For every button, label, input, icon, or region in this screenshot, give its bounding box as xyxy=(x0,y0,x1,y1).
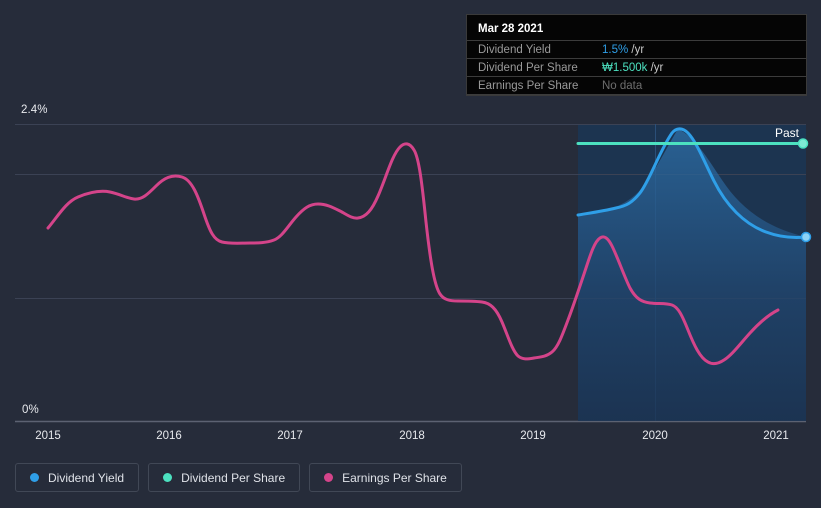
y-axis-top-label: 2.4% xyxy=(21,104,48,116)
x-axis-label-2020: 2020 xyxy=(642,430,668,442)
tooltip-value-earnings-per-share: No data xyxy=(602,80,642,92)
y-axis-bottom-label: 0% xyxy=(22,404,39,416)
past-region-label: Past xyxy=(775,126,799,140)
legend-item-dividend-yield[interactable]: Dividend Yield xyxy=(15,463,139,492)
tooltip-value-dividend-yield: 1.5% /yr xyxy=(602,44,644,56)
legend-label-dividend-yield: Dividend Yield xyxy=(48,471,124,485)
dividend-yield-end-marker xyxy=(802,233,811,242)
legend-item-dividend-per-share[interactable]: Dividend Per Share xyxy=(148,463,300,492)
legend-dot-icon-earnings-per-share xyxy=(324,473,333,482)
x-axis-label-2021: 2021 xyxy=(763,430,789,442)
tooltip-key-dividend-yield: Dividend Yield xyxy=(478,44,602,56)
x-axis-label-2019: 2019 xyxy=(520,430,546,442)
tooltip-row-dividend-yield: Dividend Yield 1.5% /yr xyxy=(467,40,806,58)
chart-tooltip: Mar 28 2021 Dividend Yield 1.5% /yr Divi… xyxy=(466,14,807,96)
dividend-chart-widget: 2.4% 0% 2015 2016 2017 2018 2019 2020 20… xyxy=(0,0,821,508)
tooltip-number-dividend-per-share: ₩1.500k xyxy=(602,62,647,74)
legend-dot-icon-dividend-yield xyxy=(30,473,39,482)
tooltip-key-earnings-per-share: Earnings Per Share xyxy=(478,80,602,92)
chart-legend: Dividend Yield Dividend Per Share Earnin… xyxy=(15,463,462,492)
legend-item-earnings-per-share[interactable]: Earnings Per Share xyxy=(309,463,462,492)
tooltip-value-dividend-per-share: ₩1.500k /yr xyxy=(602,62,663,74)
legend-label-earnings-per-share: Earnings Per Share xyxy=(342,471,447,485)
x-axis-label-2017: 2017 xyxy=(277,430,303,442)
tooltip-unit-dividend-yield: /yr xyxy=(628,44,644,56)
x-axis-label-2018: 2018 xyxy=(399,430,425,442)
tooltip-number-dividend-yield: 1.5% xyxy=(602,44,628,56)
tooltip-key-dividend-per-share: Dividend Per Share xyxy=(478,62,602,74)
x-axis-label-2016: 2016 xyxy=(156,430,182,442)
x-axis-label-2015: 2015 xyxy=(35,430,61,442)
tooltip-row-earnings-per-share: Earnings Per Share No data xyxy=(467,76,806,95)
tooltip-unit-dividend-per-share: /yr xyxy=(647,62,663,74)
tooltip-row-dividend-per-share: Dividend Per Share ₩1.500k /yr xyxy=(467,58,806,76)
dividend-per-share-end-marker xyxy=(799,139,808,148)
tooltip-date: Mar 28 2021 xyxy=(467,21,806,40)
legend-label-dividend-per-share: Dividend Per Share xyxy=(181,471,285,485)
legend-dot-icon-dividend-per-share xyxy=(163,473,172,482)
